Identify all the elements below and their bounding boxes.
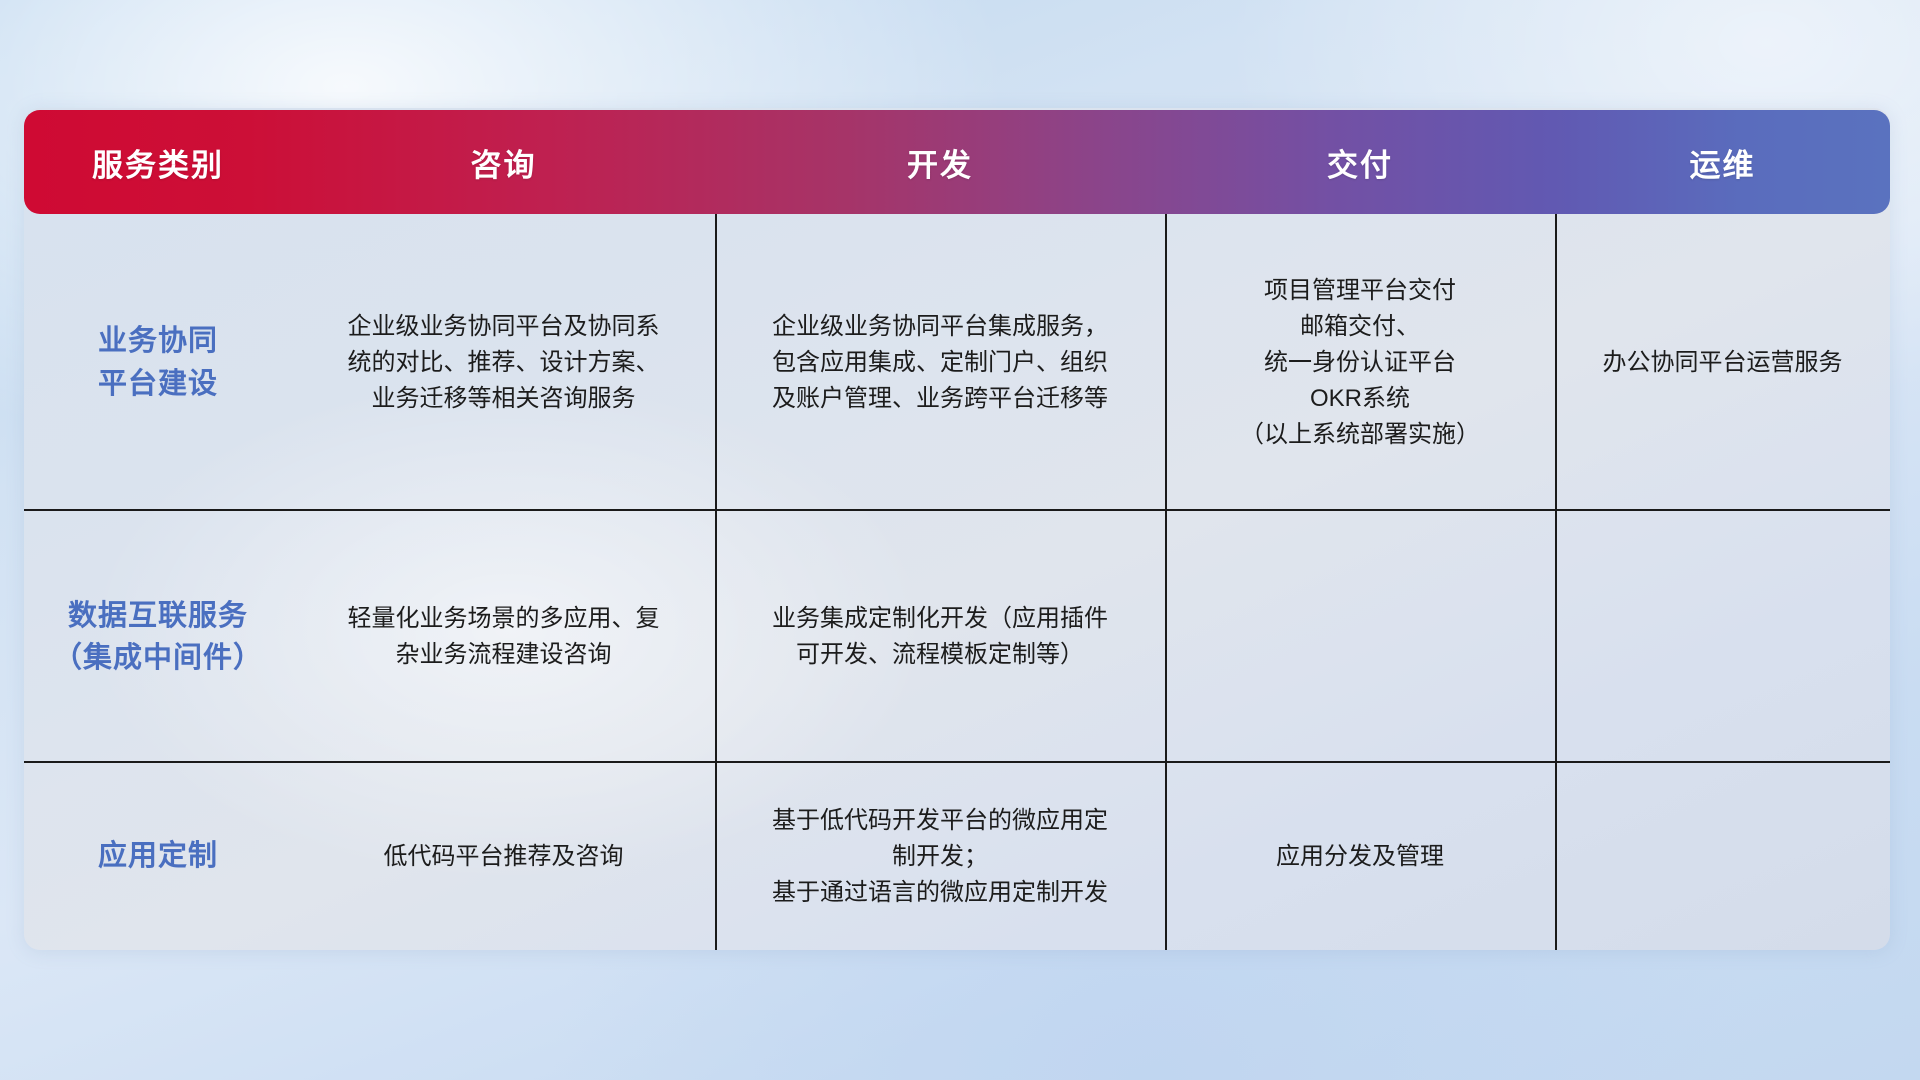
cell-text: 项目管理平台交付邮箱交付、统一身份认证平台OKR系统（以上系统部署实施） bbox=[1240, 273, 1480, 453]
column-header-category: 服务类别 bbox=[24, 140, 292, 185]
row-category-cell: 数据互联服务（集成中间件） bbox=[24, 511, 292, 763]
cell-text: 办公协同平台运营服务 bbox=[1603, 345, 1843, 381]
column-header-development: 开发 bbox=[715, 140, 1165, 185]
table-row: 数据互联服务（集成中间件） 轻量化业务场景的多应用、复杂业务流程建设咨询 业务集… bbox=[24, 511, 1890, 763]
cell-consulting: 轻量化业务场景的多应用、复杂业务流程建设咨询 bbox=[292, 511, 715, 763]
cell-development: 业务集成定制化开发（应用插件可开发、流程模板定制等） bbox=[715, 511, 1165, 763]
table-body: 业务协同平台建设 企业级业务协同平台及协同系统的对比、推荐、设计方案、业务迁移等… bbox=[24, 214, 1890, 950]
cell-development: 企业级业务协同平台集成服务，包含应用集成、定制门户、组织及账户管理、业务跨平台迁… bbox=[715, 214, 1165, 511]
column-header-delivery: 交付 bbox=[1165, 140, 1555, 185]
row-category-label: 应用定制 bbox=[98, 835, 218, 877]
row-category-cell: 应用定制 bbox=[24, 763, 292, 950]
cell-text: 基于低代码开发平台的微应用定制开发；基于通过语言的微应用定制开发 bbox=[772, 803, 1108, 911]
cell-delivery: 应用分发及管理 bbox=[1165, 763, 1555, 950]
table-header-row: 服务类别 咨询 开发 交付 运维 bbox=[24, 110, 1890, 214]
row-category-cell: 业务协同平台建设 bbox=[24, 214, 292, 511]
service-matrix-panel: 服务类别 咨询 开发 交付 运维 业务协同平台建设 企业级业务协同平台及协同系统… bbox=[24, 108, 1890, 950]
table-row: 业务协同平台建设 企业级业务协同平台及协同系统的对比、推荐、设计方案、业务迁移等… bbox=[24, 214, 1890, 511]
cell-consulting: 低代码平台推荐及咨询 bbox=[292, 763, 715, 950]
cell-text: 低代码平台推荐及咨询 bbox=[384, 839, 624, 875]
row-category-label: 业务协同平台建设 bbox=[98, 320, 218, 404]
cell-text: 应用分发及管理 bbox=[1276, 839, 1444, 875]
cell-text: 企业级业务协同平台及协同系统的对比、推荐、设计方案、业务迁移等相关咨询服务 bbox=[348, 309, 660, 417]
cell-operations bbox=[1555, 511, 1890, 763]
cell-text: 轻量化业务场景的多应用、复杂业务流程建设咨询 bbox=[348, 601, 660, 673]
column-header-operations: 运维 bbox=[1555, 140, 1890, 185]
cell-operations: 办公协同平台运营服务 bbox=[1555, 214, 1890, 511]
cell-development: 基于低代码开发平台的微应用定制开发；基于通过语言的微应用定制开发 bbox=[715, 763, 1165, 950]
row-category-label: 数据互联服务（集成中间件） bbox=[53, 595, 263, 679]
table-row: 应用定制 低代码平台推荐及咨询 基于低代码开发平台的微应用定制开发；基于通过语言… bbox=[24, 763, 1890, 950]
cell-operations bbox=[1555, 763, 1890, 950]
column-header-consulting: 咨询 bbox=[292, 140, 715, 185]
cell-delivery bbox=[1165, 511, 1555, 763]
cell-delivery: 项目管理平台交付邮箱交付、统一身份认证平台OKR系统（以上系统部署实施） bbox=[1165, 214, 1555, 511]
cell-consulting: 企业级业务协同平台及协同系统的对比、推荐、设计方案、业务迁移等相关咨询服务 bbox=[292, 214, 715, 511]
cell-text: 企业级业务协同平台集成服务，包含应用集成、定制门户、组织及账户管理、业务跨平台迁… bbox=[772, 309, 1108, 417]
cell-text: 业务集成定制化开发（应用插件可开发、流程模板定制等） bbox=[772, 601, 1108, 673]
